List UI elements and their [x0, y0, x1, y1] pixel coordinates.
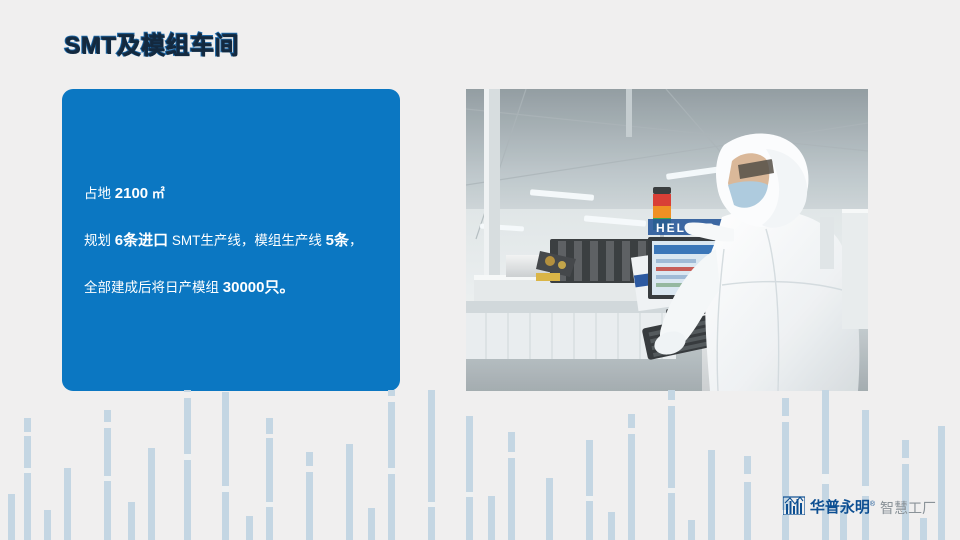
page-title: SMT及模组车间 — [65, 35, 240, 59]
brand-sub-name: 智慧工厂 — [880, 501, 936, 515]
info-line-production-lines: 规划 6条进口 SMT生产线，模组生产线 5条， — [84, 230, 378, 251]
info-panel: 占地 2100 ㎡ 规划 6条进口 SMT生产线，模组生产线 5条， 全部建成后… — [62, 89, 400, 391]
slide-root: SMT及模组车间 SMT及模组车间 占地 2100 ㎡ 规划 6条进口 SMT生… — [0, 0, 960, 540]
decorative-bar-pattern — [0, 390, 960, 540]
huapu-yongming-logo-mark-icon — [783, 495, 805, 515]
info-line-area-value: 2100 — [115, 185, 148, 202]
info-line-lines-value1: 6条进口 — [115, 232, 168, 249]
info-line-lines-middle: SMT生产线，模组生产线 — [168, 233, 326, 248]
registered-trademark-icon: ® — [870, 501, 875, 508]
info-line-output-value: 30000只。 — [223, 279, 295, 296]
brand-name: 华普永明® — [810, 500, 875, 515]
decorative-bars-svg — [0, 390, 960, 540]
info-line-lines-suffix: ， — [349, 233, 363, 248]
info-line-lines-value2: 5条 — [326, 232, 349, 249]
info-line-area-prefix: 占地 — [84, 186, 115, 201]
workshop-photo: HELLER — [466, 89, 868, 391]
brand-logo: 华普永明® 智慧工厂 — [783, 495, 936, 515]
info-line-output-prefix: 全部建成后将日产模组 — [84, 280, 223, 295]
info-line-area-unit: ㎡ — [148, 186, 165, 201]
workshop-photo-illustration: HELLER — [466, 89, 868, 391]
info-line-area: 占地 2100 ㎡ — [84, 183, 378, 204]
info-line-lines-prefix: 规划 — [84, 233, 115, 248]
info-line-output: 全部建成后将日产模组 30000只。 — [84, 277, 378, 298]
